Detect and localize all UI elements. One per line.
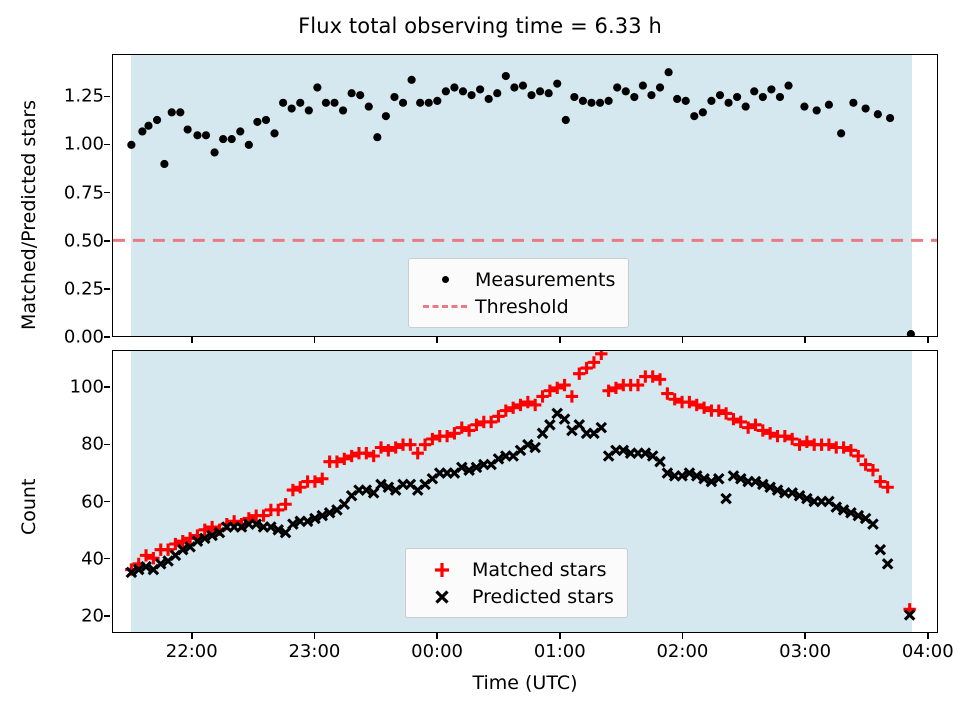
- measurement-point: [596, 99, 604, 107]
- measurement-point: [176, 108, 184, 116]
- measurement-point: [776, 93, 784, 101]
- measurement-point: [536, 87, 544, 95]
- y-tick-mark: [104, 386, 110, 388]
- measurement-point: [262, 116, 270, 124]
- predicted-star-point: [655, 457, 664, 466]
- measurement-point: [168, 108, 176, 116]
- y-tick-mark: [104, 288, 110, 290]
- measurement-point: [356, 91, 364, 99]
- measurement-point: [673, 95, 681, 103]
- measurement-point: [485, 95, 493, 103]
- measurement-point: [382, 112, 390, 120]
- y-tick-mark: [104, 501, 110, 503]
- y-tick-label: 1.25: [44, 86, 104, 107]
- measurement-point: [886, 114, 894, 122]
- measurement-point: [138, 127, 146, 135]
- x-tick-label: 01:00: [534, 641, 586, 662]
- x-tick-mark: [682, 337, 684, 343]
- measurement-point: [622, 87, 630, 95]
- measurement-point: [416, 99, 424, 107]
- measurement-point: [399, 99, 407, 107]
- y-tick-label: 40: [44, 548, 104, 569]
- measurement-point: [373, 133, 381, 141]
- x-tick-mark: [927, 337, 929, 343]
- measurement-point: [322, 99, 330, 107]
- measurement-point: [433, 97, 441, 105]
- bottom-panel-ylabel: Count: [18, 479, 40, 535]
- measurement-point: [425, 99, 433, 107]
- bottom-panel-ytick-labels: 20406080100: [42, 350, 104, 633]
- y-tick-mark: [104, 444, 110, 446]
- measurement-point: [296, 99, 304, 107]
- predicted-star-point: [597, 423, 606, 432]
- measurement-point: [330, 99, 338, 107]
- measurement-point: [690, 112, 698, 120]
- measurement-point: [313, 83, 321, 91]
- page-title: Flux total observing time = 6.33 h: [0, 14, 960, 38]
- matched-star-point: [632, 379, 644, 391]
- x-tick-mark: [804, 337, 806, 343]
- measurement-point: [476, 85, 484, 93]
- y-tick-label: 60: [44, 491, 104, 512]
- x-tick-mark: [314, 337, 316, 343]
- measurement-point: [305, 106, 313, 114]
- measurement-point: [750, 87, 758, 95]
- measurement-point: [502, 72, 510, 80]
- measurement-point: [467, 91, 475, 99]
- measurement-point: [587, 99, 595, 107]
- measurement-point: [245, 141, 253, 149]
- measurement-point: [144, 122, 152, 130]
- y-tick-label: 0.75: [44, 182, 104, 203]
- legend-item-threshold[interactable]: Threshold: [419, 293, 615, 320]
- measurement-point: [716, 91, 724, 99]
- y-tick-label: 0.00: [44, 327, 104, 348]
- measurement-point: [450, 83, 458, 91]
- x-tick-mark: [804, 633, 806, 639]
- top-panel-ylabel: Matched/Predicted stars: [18, 100, 40, 330]
- y-tick-mark: [104, 96, 110, 98]
- measurement-point: [707, 97, 715, 105]
- measurement-point: [553, 80, 561, 88]
- measurement-point: [630, 93, 638, 101]
- x-tick-label: 22:00: [166, 641, 218, 662]
- measurement-point: [613, 83, 621, 91]
- measurement-point: [656, 83, 664, 91]
- matched-star-point: [404, 439, 416, 451]
- measurement-point: [253, 118, 261, 126]
- measurement-point: [682, 97, 690, 105]
- measurements-dot-icon: [419, 276, 471, 283]
- matched-star-point: [566, 390, 578, 402]
- measurement-point: [849, 99, 857, 107]
- measurement-point: [825, 101, 833, 109]
- measurement-point: [837, 129, 845, 137]
- measurement-point: [493, 89, 501, 97]
- legend-label-predicted-stars: Predicted stars: [468, 586, 614, 608]
- y-tick-mark: [104, 192, 110, 194]
- measurement-point: [784, 82, 792, 90]
- predicted-star-point: [876, 545, 885, 554]
- figure-container: Flux total observing time = 6.33 h Match…: [0, 0, 960, 720]
- measurement-point: [348, 89, 356, 97]
- measurement-point: [699, 108, 707, 116]
- measurement-point: [759, 93, 767, 101]
- x-tick-mark: [559, 337, 561, 343]
- plus-marker-icon: [416, 559, 468, 581]
- y-tick-label: 0.50: [44, 230, 104, 251]
- legend-item-measurements[interactable]: Measurements: [419, 266, 615, 293]
- x-tick-mark: [191, 633, 193, 639]
- measurement-point: [647, 91, 655, 99]
- measurement-point: [519, 82, 527, 90]
- measurement-point: [236, 127, 244, 135]
- legend-label-measurements: Measurements: [471, 269, 615, 291]
- y-tick-label: 20: [44, 605, 104, 626]
- x-tick-label: 02:00: [656, 641, 708, 662]
- measurement-point: [813, 106, 821, 114]
- measurement-point: [442, 87, 450, 95]
- x-tick-mark: [191, 337, 193, 343]
- y-tick-label: 1.00: [44, 134, 104, 155]
- y-tick-mark: [104, 615, 110, 617]
- measurement-point: [874, 110, 882, 118]
- matched-star-point: [412, 447, 424, 459]
- cross-marker-icon: [416, 586, 468, 608]
- measurement-point: [570, 93, 578, 101]
- measurement-point: [742, 103, 750, 111]
- x-tick-label: 04:00: [902, 641, 954, 662]
- measurement-point: [390, 93, 398, 101]
- measurement-point: [219, 135, 227, 143]
- x-tick-label: 03:00: [779, 641, 831, 662]
- measurement-point: [579, 97, 587, 105]
- measurement-point: [288, 104, 296, 112]
- predicted-star-point: [721, 494, 730, 503]
- measurement-point: [339, 106, 347, 114]
- threshold-dashed-line-icon: [419, 305, 471, 308]
- predicted-star-point: [560, 414, 569, 423]
- measurement-point: [545, 89, 553, 97]
- measurement-point: [639, 82, 647, 90]
- measurement-point: [562, 116, 570, 124]
- y-tick-mark: [104, 558, 110, 560]
- predicted-star-point: [883, 559, 892, 568]
- measurement-point: [724, 99, 732, 107]
- x-axis-label: Time (UTC): [112, 672, 938, 694]
- x-tick-mark: [682, 633, 684, 639]
- x-tick-mark: [436, 633, 438, 639]
- measurement-point: [127, 141, 135, 149]
- x-tick-mark: [436, 337, 438, 343]
- bottom-panel-legend[interactable]: Matched stars Predicted stars: [405, 548, 628, 618]
- x-axis-tick-labels: 22:0023:0000:0001:0002:0003:0004:00: [112, 637, 938, 663]
- measurement-point: [664, 68, 672, 76]
- measurement-point: [210, 148, 218, 156]
- y-tick-label: 80: [44, 434, 104, 455]
- x-tick-mark: [314, 633, 316, 639]
- measurement-point: [733, 93, 741, 101]
- measurement-point: [907, 330, 915, 336]
- x-tick-mark: [559, 633, 561, 639]
- y-tick-mark: [104, 336, 110, 338]
- legend-label-threshold: Threshold: [471, 296, 569, 318]
- x-tick-mark: [927, 633, 929, 639]
- measurement-point: [510, 83, 518, 91]
- measurement-point: [193, 131, 201, 139]
- measurement-point: [605, 97, 613, 105]
- legend-label-matched-stars: Matched stars: [468, 559, 606, 581]
- measurement-point: [459, 87, 467, 95]
- top-panel-legend[interactable]: Measurements Threshold: [408, 258, 629, 328]
- top-panel-ytick-labels: 0.000.250.500.751.001.25: [42, 54, 104, 337]
- measurement-point: [527, 91, 535, 99]
- measurement-point: [862, 104, 870, 112]
- measurement-point: [202, 131, 210, 139]
- y-tick-mark: [104, 144, 110, 146]
- predicted-star-point: [868, 519, 877, 528]
- measurement-point: [279, 99, 287, 107]
- legend-item-predicted-stars[interactable]: Predicted stars: [416, 583, 614, 610]
- x-tick-label: 23:00: [288, 641, 340, 662]
- measurement-point: [153, 116, 161, 124]
- measurement-point: [767, 85, 775, 93]
- y-tick-mark: [104, 240, 110, 242]
- measurement-point: [408, 76, 416, 84]
- y-tick-label: 0.25: [44, 278, 104, 299]
- predicted-star-point: [545, 420, 554, 429]
- measurement-point: [228, 135, 236, 143]
- measurement-point: [270, 129, 278, 137]
- measurement-point: [184, 125, 192, 133]
- measurement-point: [160, 160, 168, 168]
- x-tick-label: 00:00: [411, 641, 463, 662]
- legend-item-matched-stars[interactable]: Matched stars: [416, 556, 614, 583]
- measurement-point: [800, 103, 808, 111]
- y-tick-label: 100: [44, 377, 104, 398]
- matched-star-point: [595, 351, 607, 360]
- measurement-point: [365, 103, 373, 111]
